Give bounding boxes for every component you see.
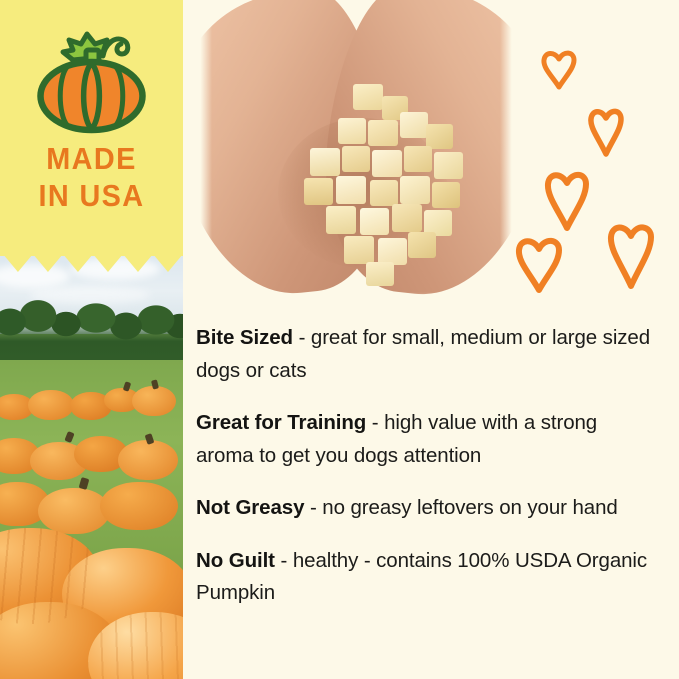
feature-item: Bite Sized - great for small, medium or … xyxy=(196,322,658,387)
photo-edge-fade-bottom xyxy=(186,292,526,310)
hands-holding-pumpkin-treats-photo xyxy=(186,0,526,310)
treat-cube xyxy=(370,180,398,206)
pumpkin xyxy=(100,482,178,530)
heart-icon xyxy=(541,166,593,232)
treat-cube xyxy=(360,208,389,235)
made-in-usa-line2: IN USA xyxy=(6,177,176,214)
treat-cube xyxy=(336,176,366,204)
pumpkin xyxy=(28,390,74,420)
treat-cube xyxy=(326,206,356,234)
heart-icon xyxy=(604,218,658,290)
treat-cube xyxy=(368,120,398,146)
treat-cube xyxy=(342,146,370,172)
treat-cube xyxy=(434,152,463,179)
treat-cube xyxy=(338,118,366,144)
treat-cube xyxy=(378,238,407,265)
treat-cube xyxy=(400,112,428,138)
heart-icon xyxy=(512,232,566,294)
made-in-usa-line1: MADE xyxy=(6,140,176,177)
feature-item: Not Greasy - no greasy leftovers on your… xyxy=(196,492,658,525)
photo-edge-fade-left xyxy=(186,0,212,310)
left-column: MADE IN USA xyxy=(0,0,183,679)
heart-icon xyxy=(538,46,580,90)
treat-cube xyxy=(408,232,436,258)
treat-cube xyxy=(304,178,333,205)
treat-cube xyxy=(400,176,430,204)
heart-icon xyxy=(586,104,626,158)
pumpkin xyxy=(132,386,176,416)
pumpkin xyxy=(38,488,110,534)
treat-cube xyxy=(344,236,374,264)
product-feature-graphic: MADE IN USA xyxy=(0,0,679,679)
treat-cube xyxy=(366,262,394,286)
treat-cube xyxy=(372,150,402,177)
pumpkin xyxy=(118,440,178,480)
feature-lead: Bite Sized xyxy=(196,326,293,349)
feature-item: Great for Training - high value with a s… xyxy=(196,407,658,472)
made-in-usa-text: MADE IN USA xyxy=(6,140,176,214)
treat-cube xyxy=(404,146,432,172)
treat-cube xyxy=(353,84,383,110)
treat-cube xyxy=(392,204,422,232)
feature-lead: No Guilt xyxy=(196,549,275,572)
treat-cube xyxy=(310,148,340,176)
feature-list: Bite Sized - great for small, medium or … xyxy=(196,322,658,630)
feature-lead: Not Greasy xyxy=(196,496,304,519)
pumpkin-icon xyxy=(33,26,150,134)
feature-lead: Great for Training xyxy=(196,411,366,434)
made-in-usa-badge-panel: MADE IN USA xyxy=(0,0,183,272)
treat-cube xyxy=(432,182,460,208)
feature-rest: - no greasy leftovers on your hand xyxy=(304,496,617,519)
pumpkin-patch-photo xyxy=(0,256,183,679)
feature-item: No Guilt - healthy - contains 100% USDA … xyxy=(196,545,658,610)
